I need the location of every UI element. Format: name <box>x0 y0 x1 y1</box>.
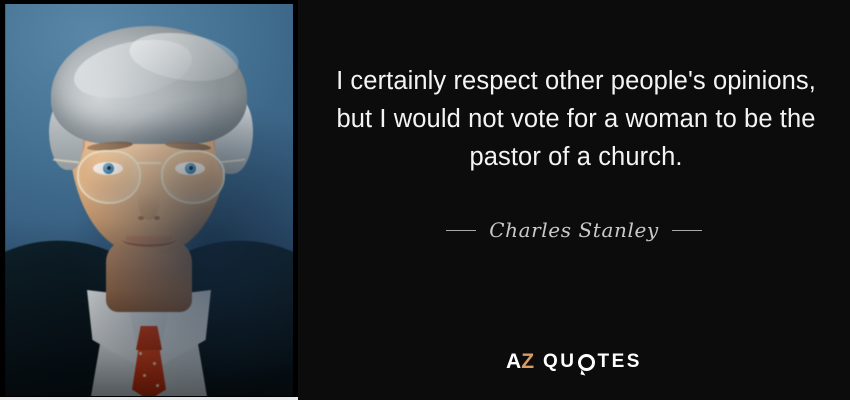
photo-vignette <box>5 4 293 396</box>
attribution-dash-left <box>446 230 476 231</box>
az-quotes-logo[interactable]: A Z QU TES <box>298 350 850 374</box>
speech-bubble-icon <box>578 354 595 371</box>
attribution-author: Charles Stanley <box>489 218 659 242</box>
quote-panel: I certainly respect other people's opini… <box>298 0 850 400</box>
quote-text: I certainly respect other people's opini… <box>320 62 832 176</box>
logo-text-tes: TES <box>598 351 642 373</box>
logo-wordmark: A Z QU TES <box>506 350 642 374</box>
portrait-panel <box>0 0 298 400</box>
portrait-photo <box>5 4 293 396</box>
attribution: Charles Stanley <box>298 218 850 242</box>
quote-card: I certainly respect other people's opini… <box>0 0 850 400</box>
logo-text-qu: QU <box>543 351 577 373</box>
logo-letter-a: A <box>506 350 521 374</box>
attribution-dash-right <box>672 230 702 231</box>
logo-letter-z: Z <box>521 350 534 374</box>
